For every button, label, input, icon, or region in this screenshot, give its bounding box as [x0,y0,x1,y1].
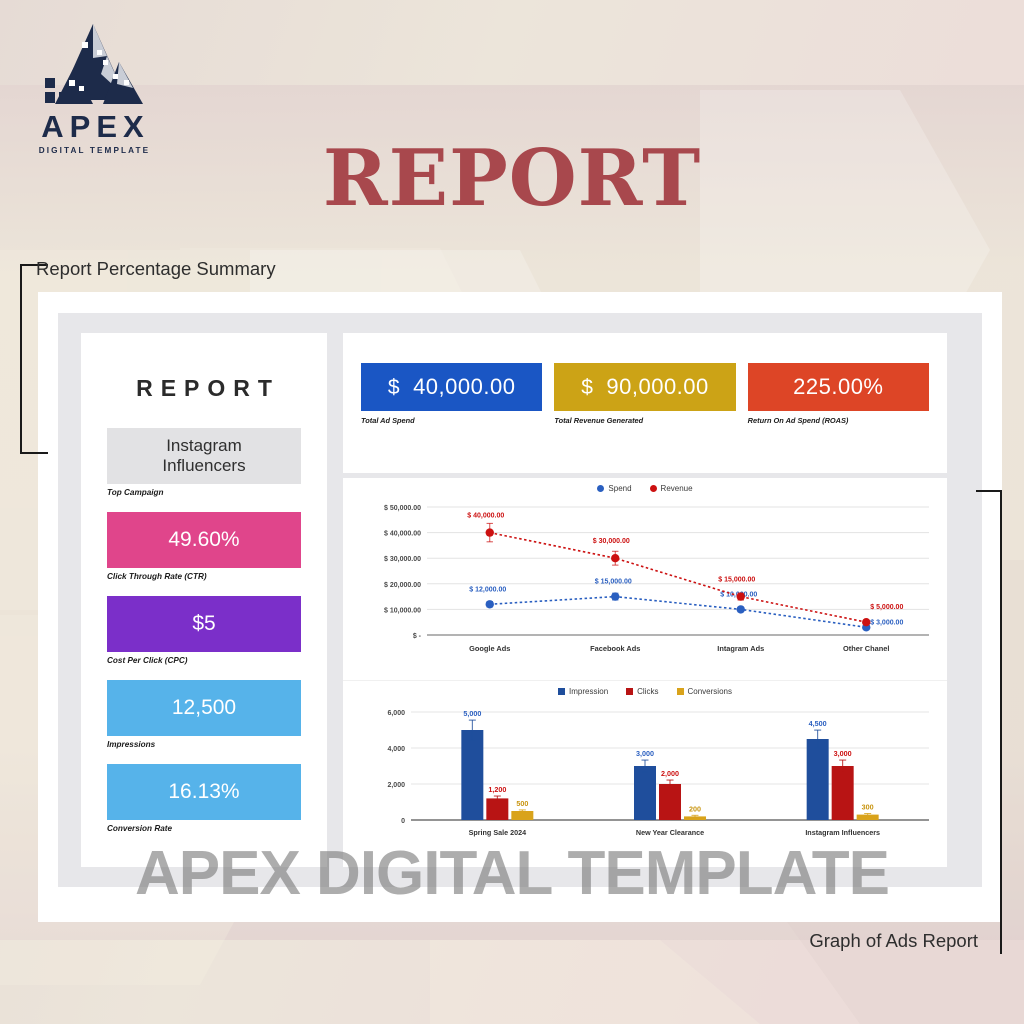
legend-swatch-icon [626,688,633,695]
metric-caption: Return On Ad Spend (ROAS) [748,416,929,425]
legend-item-impression[interactable]: Impression [558,687,608,696]
line-chart-legend: SpendRevenue [353,484,937,493]
svg-text:4,000: 4,000 [387,746,405,753]
svg-text:3,000: 3,000 [834,749,852,758]
kpi-value: 16.13% [168,780,239,804]
svg-text:200: 200 [689,804,701,813]
watermark: APEX DIGITAL TEMPLATE [0,838,1024,909]
kpi-value: $5 [192,612,215,636]
kpi-caption: Top Campaign [107,488,301,497]
svg-text:$ 15,000.00: $ 15,000.00 [718,577,755,584]
svg-text:2,000: 2,000 [387,782,405,789]
metric-caption: Total Ad Spend [361,416,542,425]
line-chart-block: SpendRevenue $ -$ 10,000.00$ 20,000.00$ … [343,478,947,680]
metric-value: $40,000.00 [388,374,516,400]
svg-text:$ 50,000.00: $ 50,000.00 [384,505,421,512]
kpi-list: InstagramInfluencersTop Campaign49.60%Cl… [107,428,301,833]
kpi-value: InstagramInfluencers [162,436,245,475]
right-annotation-label: Graph of Ads Report [809,930,978,952]
kpi-card-0[interactable]: InstagramInfluencers [107,428,301,484]
metric-caption: Total Revenue Generated [554,416,735,425]
brand-name: APEX [28,111,158,142]
legend-item-revenue[interactable]: Revenue [650,484,693,493]
svg-text:300: 300 [862,803,874,812]
svg-text:$ -: $ - [413,633,422,640]
kpi-card-1[interactable]: 49.60% [107,512,301,568]
svg-text:500: 500 [516,799,528,808]
legend-label: Revenue [661,484,693,493]
svg-text:3,000: 3,000 [636,749,654,758]
legend-item-spend[interactable]: Spend [597,484,631,493]
kpi-panel-heading: REPORT [107,375,301,402]
kpi-caption: Impressions [107,740,301,749]
metric-box: $40,000.00 [361,363,542,411]
kpi-card-3[interactable]: 12,500 [107,680,301,736]
svg-text:$ 30,000.00: $ 30,000.00 [593,538,630,545]
legend-label: Spend [608,484,631,493]
kpi-panel: REPORT InstagramInfluencersTop Campaign4… [81,333,327,867]
svg-text:6,000: 6,000 [387,710,405,717]
bar-chart: 02,0004,0006,000Spring Sale 2024New Year… [353,698,937,850]
svg-text:$ 40,000.00: $ 40,000.00 [467,513,504,520]
svg-text:Intagram Ads: Intagram Ads [717,644,764,653]
svg-text:Facebook Ads: Facebook Ads [590,644,640,653]
legend-label: Clicks [637,687,658,696]
svg-text:Spring Sale 2024: Spring Sale 2024 [469,828,527,837]
svg-text:$ 3,000.00: $ 3,000.00 [870,619,903,626]
svg-text:$ 40,000.00: $ 40,000.00 [384,531,421,538]
metric-value: 225.00% [793,374,883,400]
svg-text:$ 12,000.00: $ 12,000.00 [469,586,506,593]
kpi-value: 49.60% [168,528,239,552]
svg-text:New Year Clearance: New Year Clearance [636,828,704,837]
svg-text:5,000: 5,000 [463,709,481,718]
legend-swatch-icon [677,688,684,695]
kpi-card-4[interactable]: 16.13% [107,764,301,820]
svg-text:Other Chanel: Other Chanel [843,644,889,653]
svg-text:1,200: 1,200 [488,785,506,794]
svg-text:$ 20,000.00: $ 20,000.00 [384,582,421,589]
svg-text:2,000: 2,000 [661,769,679,778]
svg-text:$ 5,000.00: $ 5,000.00 [870,604,903,611]
metric-1[interactable]: $90,000.00Total Revenue Generated [554,363,735,425]
bar-chart-legend: ImpressionClicksConversions [353,687,937,696]
bar-chart-block: ImpressionClicksConversions 02,0004,0006… [343,680,947,858]
metrics-panel: $40,000.00Total Ad Spend$90,000.00Total … [343,333,947,473]
page-title: REPORT [0,140,1024,218]
metric-box: $90,000.00 [554,363,735,411]
svg-text:$ 10,000.00: $ 10,000.00 [384,607,421,614]
brand-logo: APEX DIGITAL TEMPLATE [28,22,158,155]
legend-swatch-icon [597,485,604,492]
svg-text:4,500: 4,500 [809,719,827,728]
svg-text:$ 30,000.00: $ 30,000.00 [384,556,421,563]
svg-text:Google Ads: Google Ads [469,644,510,653]
svg-text:$ 15,000.00: $ 15,000.00 [595,579,632,586]
kpi-caption: Cost Per Click (CPC) [107,656,301,665]
metric-0[interactable]: $40,000.00Total Ad Spend [361,363,542,425]
legend-swatch-icon [650,485,657,492]
metric-value: $90,000.00 [581,374,709,400]
legend-label: Conversions [688,687,732,696]
legend-label: Impression [569,687,608,696]
svg-text:0: 0 [401,818,405,825]
left-bracket [20,264,48,454]
kpi-caption: Click Through Rate (CTR) [107,572,301,581]
metric-box: 225.00% [748,363,929,411]
legend-swatch-icon [558,688,565,695]
legend-item-clicks[interactable]: Clicks [626,687,658,696]
charts-panel: SpendRevenue $ -$ 10,000.00$ 20,000.00$ … [343,478,947,867]
metric-2[interactable]: 225.00%Return On Ad Spend (ROAS) [748,363,929,425]
kpi-card-2[interactable]: $5 [107,596,301,652]
line-chart: $ -$ 10,000.00$ 20,000.00$ 30,000.00$ 40… [353,495,937,667]
mountain-buildings-icon [41,22,145,108]
left-annotation-label: Report Percentage Summary [36,258,276,280]
kpi-value: 12,500 [172,696,236,720]
legend-item-conversions[interactable]: Conversions [677,687,732,696]
metrics-row: $40,000.00Total Ad Spend$90,000.00Total … [343,333,947,425]
svg-text:Instagram Influencers: Instagram Influencers [805,828,880,837]
kpi-caption: Conversion Rate [107,824,301,833]
